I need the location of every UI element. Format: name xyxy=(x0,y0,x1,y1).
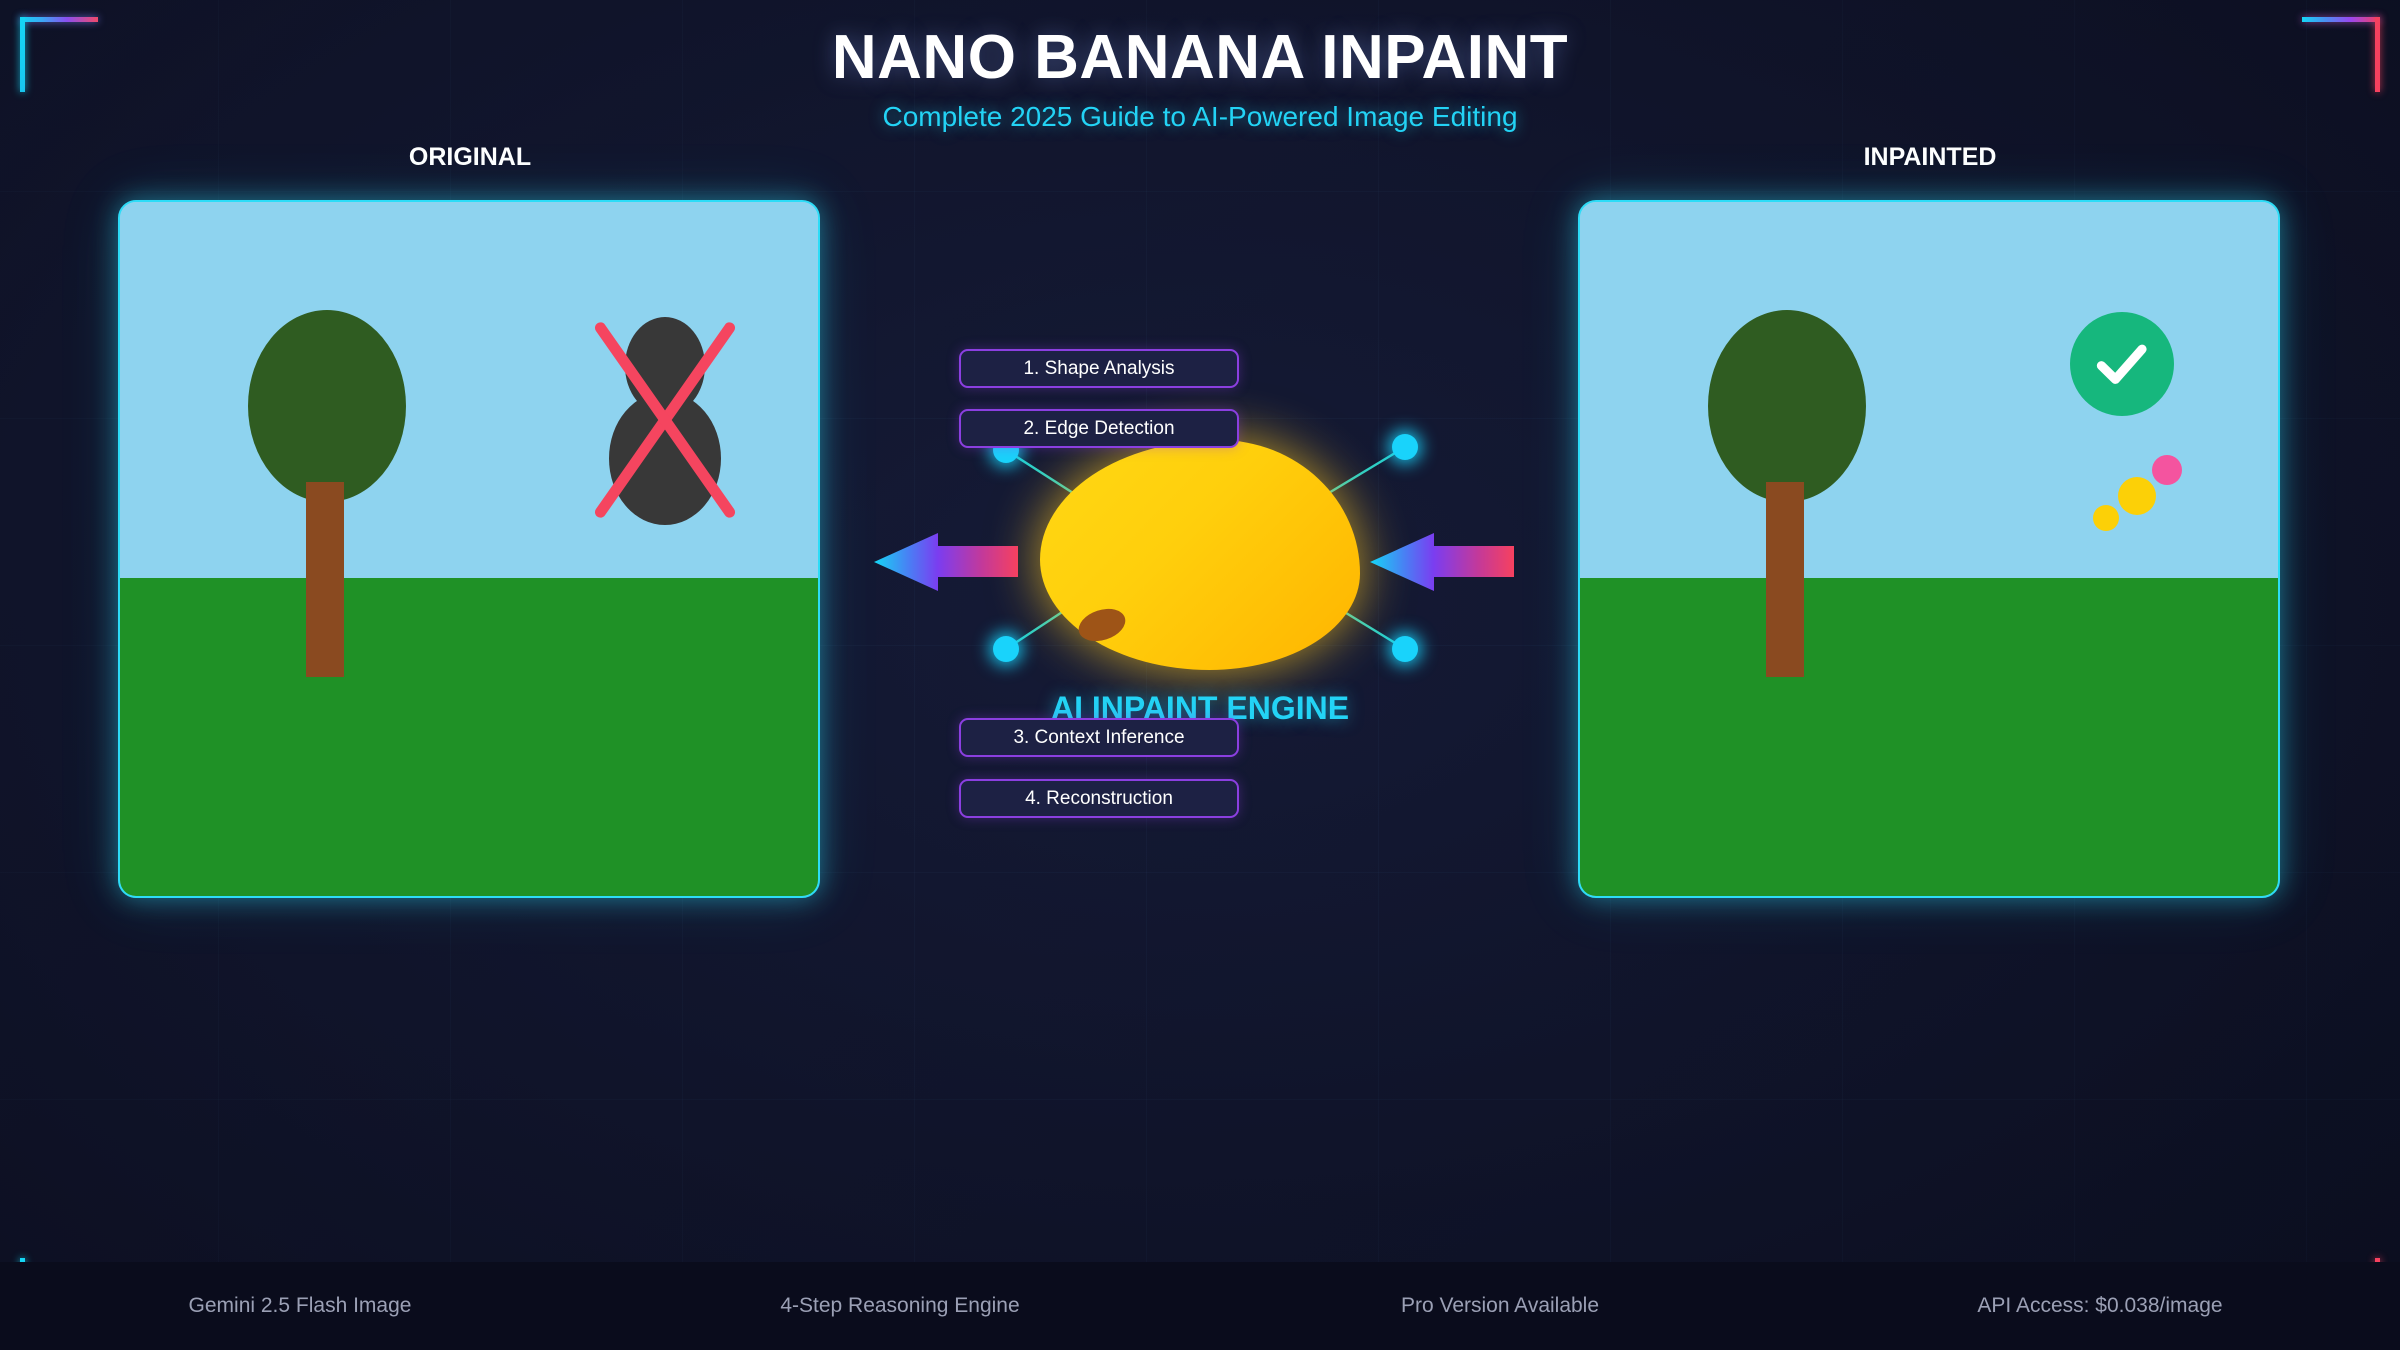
panel-label-original: ORIGINAL xyxy=(320,143,620,172)
tree-canopy-icon xyxy=(1708,310,1866,502)
sky-region xyxy=(1580,202,2278,578)
tree-trunk-icon xyxy=(1766,482,1804,677)
step-box-reconstruction[interactable]: 4. Reconstruction xyxy=(959,779,1239,818)
inpainted-image-panel[interactable] xyxy=(1578,200,2280,898)
page-title: NANO BANANA INPAINT xyxy=(0,22,2400,93)
tree-canopy-icon xyxy=(248,310,406,502)
original-image-panel[interactable] xyxy=(118,200,820,898)
page-subtitle: Complete 2025 Guide to AI-Powered Image … xyxy=(0,101,2400,133)
check-glyph xyxy=(2089,331,2155,397)
engine-node-bottom-left xyxy=(993,636,1019,662)
arrow-head xyxy=(874,533,938,591)
engine-node-bottom-right xyxy=(1392,636,1418,662)
footer-bar: Gemini 2.5 Flash Image 4-Step Reasoning … xyxy=(0,1262,2400,1350)
banana-engine-core xyxy=(1040,440,1360,670)
arrow-shaft xyxy=(938,546,1018,577)
remove-x-icon xyxy=(575,302,755,537)
flow-arrow-right xyxy=(1370,533,1514,591)
panel-label-inpainted: INPAINTED xyxy=(1780,143,2080,172)
engine-node-top-right xyxy=(1392,434,1418,460)
footer-item-api-cost: API Access: $0.038/image xyxy=(1800,1294,2400,1318)
flower-yellow-icon xyxy=(2118,477,2156,515)
grass-region xyxy=(120,578,818,896)
flower-yellow-small-icon xyxy=(2093,505,2119,531)
step-box-edge-detection[interactable]: 2. Edge Detection xyxy=(959,409,1239,448)
success-check-icon xyxy=(2070,312,2174,416)
footer-item-model: Gemini 2.5 Flash Image xyxy=(0,1294,600,1318)
arrow-head xyxy=(1370,533,1434,591)
step-box-shape-analysis[interactable]: 1. Shape Analysis xyxy=(959,349,1239,388)
flower-pink-icon xyxy=(2152,455,2182,485)
poster-canvas: NANO BANANA INPAINT Complete 2025 Guide … xyxy=(0,0,2400,1350)
arrow-shaft xyxy=(1434,546,1514,577)
flow-arrow-left xyxy=(874,533,1018,591)
tree-trunk-icon xyxy=(306,482,344,677)
footer-item-pro: Pro Version Available xyxy=(1200,1294,1800,1318)
step-box-context-inference[interactable]: 3. Context Inference xyxy=(959,718,1239,757)
footer-item-engine: 4-Step Reasoning Engine xyxy=(600,1294,1200,1318)
grass-region xyxy=(1580,578,2278,896)
